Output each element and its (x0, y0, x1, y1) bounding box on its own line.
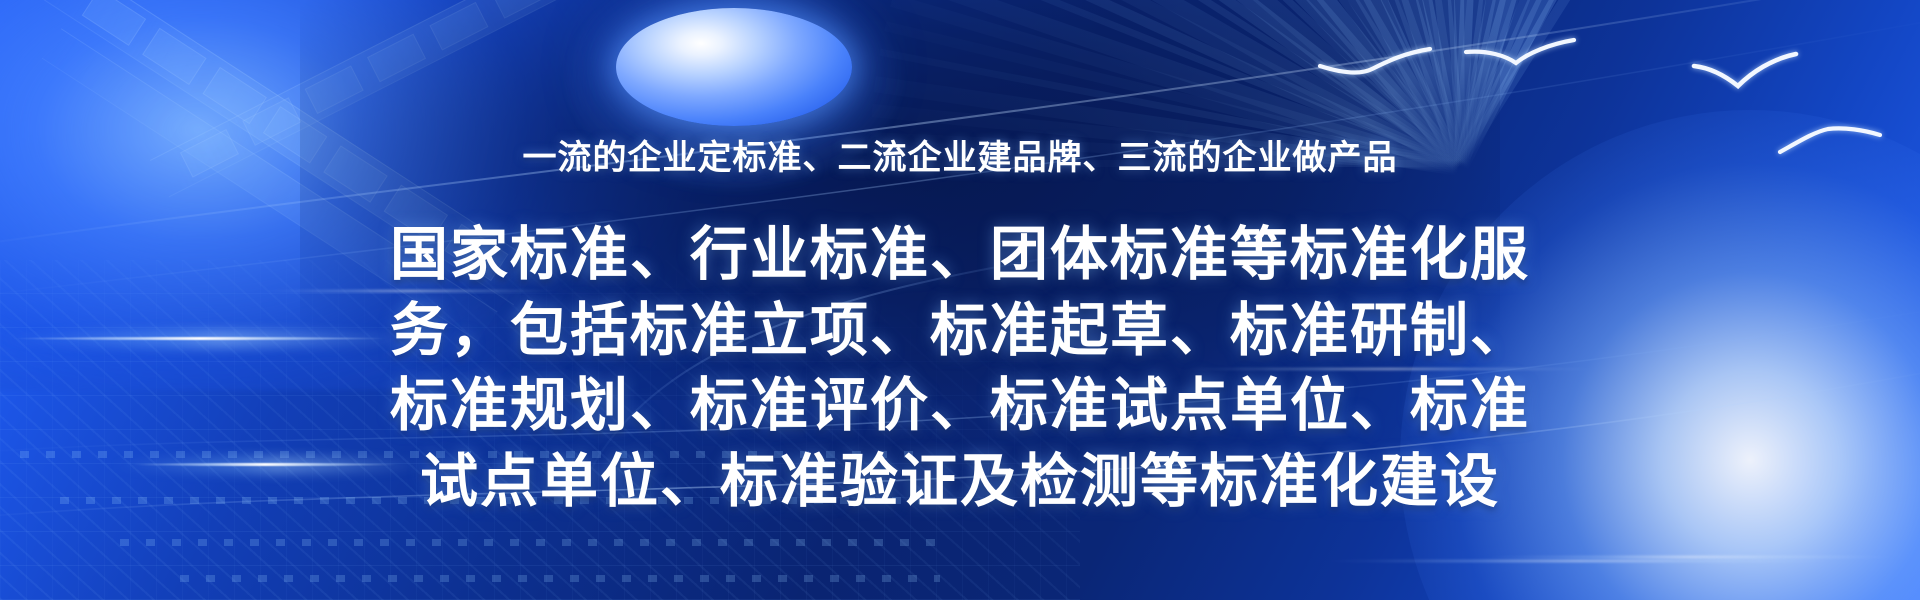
banner-headline: 国家标准、行业标准、团体标准等标准化服 务，包括标准立项、标准起草、标准研制、 … (340, 217, 1580, 519)
text-content: 一流的企业定标准、二流企业建品牌、三流的企业做产品 国家标准、行业标准、团体标准… (0, 0, 1920, 600)
headline-line-2: 务，包括标准立项、标准起草、标准研制、 (340, 293, 1580, 368)
banner-tagline: 一流的企业定标准、二流企业建品牌、三流的企业做产品 (523, 140, 1398, 177)
marketing-banner: 一流的企业定标准、二流企业建品牌、三流的企业做产品 国家标准、行业标准、团体标准… (0, 0, 1920, 600)
headline-line-1: 国家标准、行业标准、团体标准等标准化服 (340, 217, 1580, 292)
headline-line-4: 试点单位、标准验证及检测等标准化建设 (340, 444, 1580, 519)
headline-line-3: 标准规划、标准评价、标准试点单位、标准 (340, 368, 1580, 443)
